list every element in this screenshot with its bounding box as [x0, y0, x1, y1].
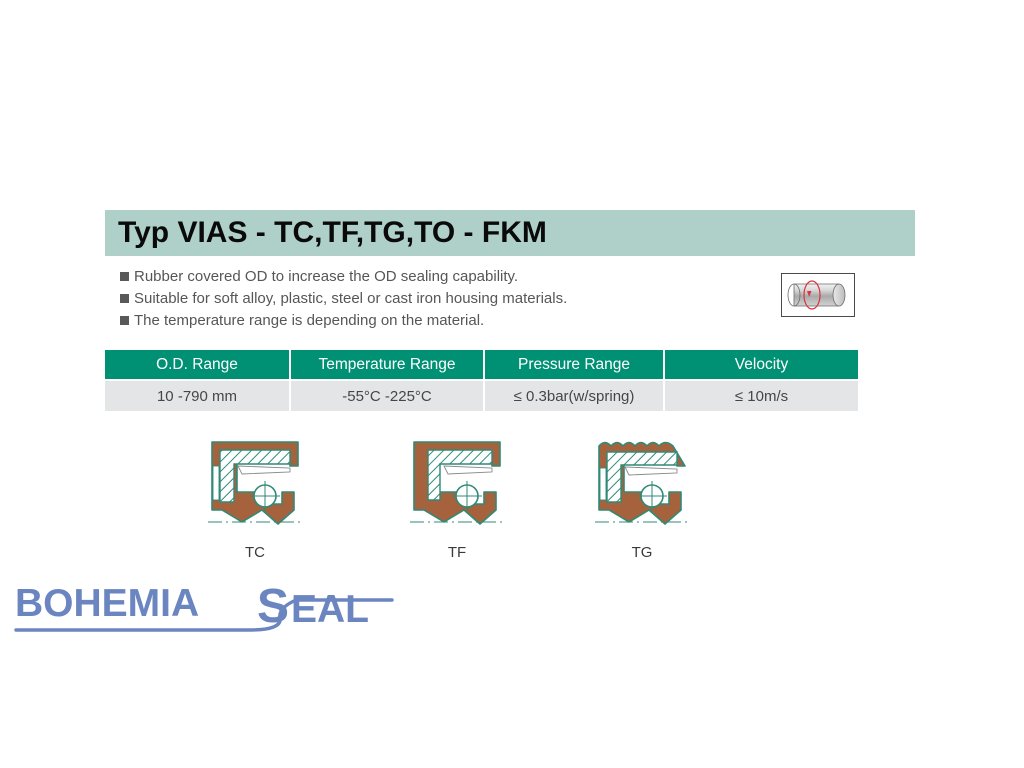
column-header-od-range: O.D. Range	[105, 350, 291, 379]
seal-diagram-tc: TC	[190, 432, 320, 561]
page-title: Typ VIAS - TC,TF,TG,TO - FKM	[105, 216, 547, 250]
product-title-bar: Typ VIAS - TC,TF,TG,TO - FKM	[105, 210, 915, 256]
bullet-square-icon	[120, 316, 129, 325]
seal-diagram-tg: TG	[577, 432, 707, 561]
list-item: Rubber covered OD to increase the OD sea…	[120, 267, 740, 288]
logo-word-two-rest: EAL	[291, 588, 369, 631]
shaft-rotation-graphic	[782, 274, 854, 316]
column-header-velocity: Velocity	[665, 350, 858, 379]
bullet-square-icon	[120, 272, 129, 281]
table-row: 10 -790 mm -55°C -225°C ≤ 0.3bar(w/sprin…	[105, 381, 858, 411]
seal-diagram-tf: TF	[392, 432, 522, 561]
feature-text: The temperature range is depending on th…	[134, 311, 484, 330]
seal-cross-section-gallery: TC TF	[0, 432, 1024, 562]
feature-text: Suitable for soft alloy, plastic, steel …	[134, 289, 567, 308]
column-header-pressure-range: Pressure Range	[485, 350, 665, 379]
seal-label-tf: TF	[392, 544, 522, 561]
list-item: The temperature range is depending on th…	[120, 311, 740, 332]
bohemia-seal-logo-graphic: BOHEMIA S EAL	[14, 578, 394, 640]
seal-cross-section-tg-graphic	[577, 432, 707, 537]
seal-label-tc: TC	[190, 544, 320, 561]
cell-pressure-range: ≤ 0.3bar(w/spring)	[485, 381, 665, 411]
shaft-rotation-icon	[781, 273, 855, 317]
seal-cross-section-tc-graphic	[190, 432, 320, 537]
cell-velocity: ≤ 10m/s	[665, 381, 858, 411]
table-header-row: O.D. Range Temperature Range Pressure Ra…	[105, 350, 858, 379]
cell-od-range: 10 -790 mm	[105, 381, 291, 411]
feature-bullet-list: Rubber covered OD to increase the OD sea…	[120, 267, 740, 333]
bullet-square-icon	[120, 294, 129, 303]
specification-table: O.D. Range Temperature Range Pressure Ra…	[105, 350, 858, 411]
seal-cross-section-tf-graphic	[392, 432, 522, 537]
cell-temperature-range: -55°C -225°C	[291, 381, 485, 411]
seal-label-tg: TG	[577, 544, 707, 561]
column-header-temperature-range: Temperature Range	[291, 350, 485, 379]
list-item: Suitable for soft alloy, plastic, steel …	[120, 289, 740, 310]
feature-text: Rubber covered OD to increase the OD sea…	[134, 267, 518, 286]
logo-word-one: BOHEMIA	[15, 582, 199, 625]
bohemia-seal-logo: BOHEMIA S EAL	[14, 578, 394, 640]
